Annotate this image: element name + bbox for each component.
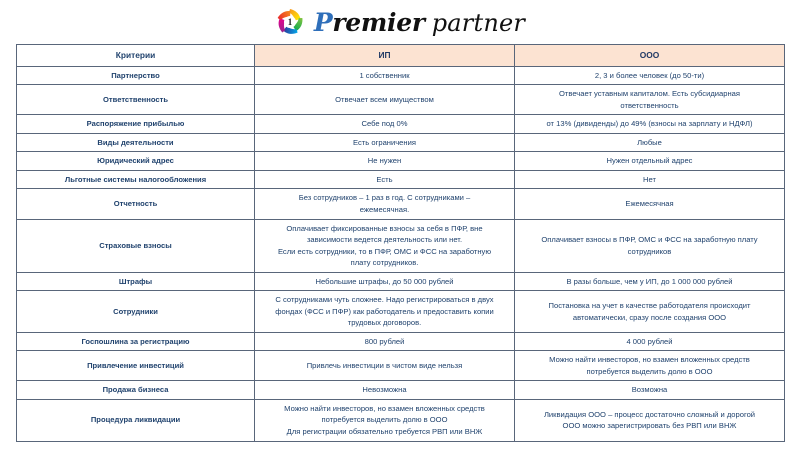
ooo-value-cell: Ликвидация ООО – процесс достаточно слож…: [515, 399, 785, 441]
criteria-cell: Виды деятельности: [17, 133, 255, 152]
cell-line: Есть: [260, 174, 509, 186]
cell-line: Невозможна: [260, 384, 509, 396]
ip-value-cell: С сотрудниками чуть сложнее. Надо регист…: [255, 291, 515, 333]
ooo-value-cell: Нужен отдельный адрес: [515, 152, 785, 171]
cell-line: Отвечает всем имуществом: [260, 94, 509, 106]
cell-line: 800 рублей: [260, 336, 509, 348]
cell-line: ответственность: [520, 100, 779, 112]
ip-value-cell: Есть ограничения: [255, 133, 515, 152]
ooo-value-cell: Можно найти инвесторов, но взамен вложен…: [515, 351, 785, 381]
ip-value-cell: Оплачивает фиксированные взносы за себя …: [255, 219, 515, 272]
cell-line: Возможна: [520, 384, 779, 396]
ooo-value-cell: Любые: [515, 133, 785, 152]
table-row: Юридический адресНе нуженНужен отдельный…: [17, 152, 785, 171]
ip-value-cell: Отвечает всем имуществом: [255, 85, 515, 115]
cell-line: Оплачивает фиксированные взносы за себя …: [260, 223, 509, 235]
criteria-cell: Процедура ликвидации: [17, 399, 255, 441]
criteria-cell: Госпошлина за регистрацию: [17, 332, 255, 351]
ip-value-cell: Невозможна: [255, 381, 515, 400]
cell-line: потребуется выделить долю в ООО: [260, 414, 509, 426]
table-row: Продажа бизнесаНевозможнаВозможна: [17, 381, 785, 400]
table-body: Партнерство1 собственник2, 3 и более чел…: [17, 66, 785, 441]
cell-line: автоматически, сразу после создания ООО: [520, 312, 779, 324]
ooo-value-cell: Постановка на учет в качестве работодате…: [515, 291, 785, 333]
ooo-value-cell: 4 000 рублей: [515, 332, 785, 351]
column-header-criteria: Критерии: [17, 45, 255, 67]
ooo-value-cell: Нет: [515, 170, 785, 189]
cell-line: трудовых договоров.: [260, 317, 509, 329]
cell-line: Любые: [520, 137, 779, 149]
ip-value-cell: 800 рублей: [255, 332, 515, 351]
cell-line: С сотрудниками чуть сложнее. Надо регист…: [260, 294, 509, 306]
brand-name-partner: partner: [432, 9, 525, 37]
criteria-cell: Отчетность: [17, 189, 255, 219]
cell-line: зависимости ведется деятельность или нет…: [260, 234, 509, 246]
cell-line: Привлечь инвестиции в чистом виде нельзя: [260, 360, 509, 372]
cell-line: Можно найти инвесторов, но взамен вложен…: [260, 403, 509, 415]
column-header-ip: ИП: [255, 45, 515, 67]
ooo-value-cell: Отвечает уставным капиталом. Есть субсид…: [515, 85, 785, 115]
brand-wordmark: Premier partner: [314, 8, 525, 37]
cell-line: Отвечает уставным капиталом. Есть субсид…: [520, 88, 779, 100]
brand-name-premier: Premier: [314, 8, 425, 37]
table-row: Партнерство1 собственник2, 3 и более чел…: [17, 66, 785, 85]
criteria-cell: Льготные системы налогообложения: [17, 170, 255, 189]
cell-line: В разы больше, чем у ИП, до 1 000 000 ру…: [520, 276, 779, 288]
criteria-cell: Распоряжение прибылью: [17, 115, 255, 134]
ip-vs-ooo-comparison-table: Критерии ИП ООО Партнерство1 собственник…: [16, 44, 785, 442]
cell-line: Есть ограничения: [260, 137, 509, 149]
brand-initial: P: [314, 8, 333, 37]
cell-line: 2, 3 и более человек (до 50-ти): [520, 70, 779, 82]
cell-line: Нужен отдельный адрес: [520, 155, 779, 167]
ooo-value-cell: Ежемесячная: [515, 189, 785, 219]
logo-number: 1: [288, 17, 293, 27]
cell-line: Оплачивает взносы в ПФР, ОМС и ФСС на за…: [520, 234, 779, 246]
criteria-cell: Сотрудники: [17, 291, 255, 333]
cell-line: Нет: [520, 174, 779, 186]
table-row: ОтчетностьБез сотрудников – 1 раз в год.…: [17, 189, 785, 219]
column-header-ooo: ООО: [515, 45, 785, 67]
criteria-cell: Штрафы: [17, 272, 255, 291]
ip-value-cell: Можно найти инвесторов, но взамен вложен…: [255, 399, 515, 441]
ip-value-cell: Без сотрудников – 1 раз в год. С сотрудн…: [255, 189, 515, 219]
table-row: Виды деятельностиЕсть ограниченияЛюбые: [17, 133, 785, 152]
ip-value-cell: Есть: [255, 170, 515, 189]
criteria-cell: Ответственность: [17, 85, 255, 115]
table-row: Льготные системы налогообложенияЕстьНет: [17, 170, 785, 189]
ooo-value-cell: 2, 3 и более человек (до 50-ти): [515, 66, 785, 85]
cell-line: 1 собственник: [260, 70, 509, 82]
ooo-value-cell: Оплачивает взносы в ПФР, ОМС и ФСС на за…: [515, 219, 785, 272]
cell-line: ООО можно зарегистрировать без РВП или В…: [520, 420, 779, 432]
cell-line: Ликвидация ООО – процесс достаточно слож…: [520, 409, 779, 421]
criteria-cell: Юридический адрес: [17, 152, 255, 171]
cell-line: Без сотрудников – 1 раз в год. С сотрудн…: [260, 192, 509, 204]
ip-value-cell: Не нужен: [255, 152, 515, 171]
table-row: ШтрафыНебольшие штрафы, до 50 000 рублей…: [17, 272, 785, 291]
criteria-cell: Привлечение инвестиций: [17, 351, 255, 381]
cell-line: Не нужен: [260, 155, 509, 167]
ip-value-cell: Привлечь инвестиции в чистом виде нельзя: [255, 351, 515, 381]
cell-line: Постановка на учет в качестве работодате…: [520, 300, 779, 312]
cell-line: Ежемесячная: [520, 198, 779, 210]
table-header: Критерии ИП ООО: [17, 45, 785, 67]
table-row: СотрудникиС сотрудниками чуть сложнее. Н…: [17, 291, 785, 333]
cell-line: фондах (ФСС и ПФР) как работодатель и пр…: [260, 306, 509, 318]
ip-value-cell: 1 собственник: [255, 66, 515, 85]
table-row: Распоряжение прибыльюСебе под 0%от 13% (…: [17, 115, 785, 134]
ooo-value-cell: от 13% (дивиденды) до 49% (взносы на зар…: [515, 115, 785, 134]
cell-line: 4 000 рублей: [520, 336, 779, 348]
table-row: ОтветственностьОтвечает всем имуществомО…: [17, 85, 785, 115]
brand-header: 1 Premier partner: [0, 0, 800, 44]
ooo-value-cell: Возможна: [515, 381, 785, 400]
table-row: Процедура ликвидацииМожно найти инвестор…: [17, 399, 785, 441]
criteria-cell: Партнерство: [17, 66, 255, 85]
cell-line: потребуется выделить долю в ООО: [520, 366, 779, 378]
cell-line: Себе под 0%: [260, 118, 509, 130]
brand-name-rest: remier: [332, 8, 424, 37]
cell-line: сотрудников: [520, 246, 779, 258]
criteria-cell: Страховые взносы: [17, 219, 255, 272]
table-row: Привлечение инвестицийПривлечь инвестици…: [17, 351, 785, 381]
table-row: Страховые взносыОплачивает фиксированные…: [17, 219, 785, 272]
ip-value-cell: Себе под 0%: [255, 115, 515, 134]
cell-line: Если есть сотрудники, то в ПФР, ОМС и ФС…: [260, 246, 509, 258]
cell-line: Для регистрации обязательно требуется РВ…: [260, 426, 509, 438]
cell-line: от 13% (дивиденды) до 49% (взносы на зар…: [520, 118, 779, 130]
comparison-table-container: Критерии ИП ООО Партнерство1 собственник…: [0, 44, 800, 442]
criteria-cell: Продажа бизнеса: [17, 381, 255, 400]
ooo-value-cell: В разы больше, чем у ИП, до 1 000 000 ру…: [515, 272, 785, 291]
cell-line: Можно найти инвесторов, но взамен вложен…: [520, 354, 779, 366]
ip-value-cell: Небольшие штрафы, до 50 000 рублей: [255, 272, 515, 291]
cell-line: плату сотрудников.: [260, 257, 509, 269]
cell-line: ежемесячная.: [260, 204, 509, 216]
table-header-row: Критерии ИП ООО: [17, 45, 785, 67]
cell-line: Небольшие штрафы, до 50 000 рублей: [260, 276, 509, 288]
pentagon-rainbow-number-one-icon: 1: [275, 7, 305, 37]
table-row: Госпошлина за регистрацию800 рублей4 000…: [17, 332, 785, 351]
